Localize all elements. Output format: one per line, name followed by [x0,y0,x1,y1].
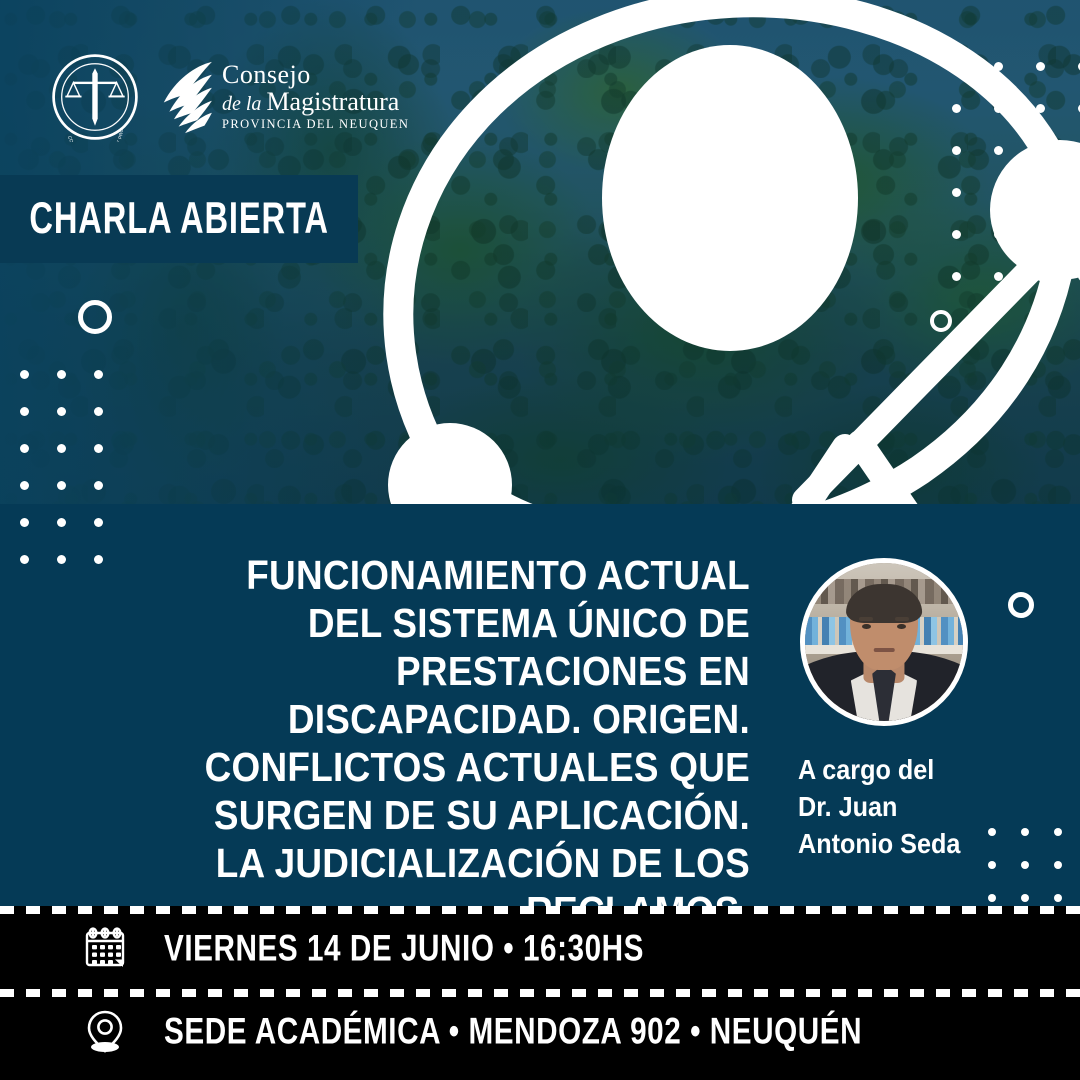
council-line-2-prefix: de la [222,93,266,115]
footer-info-bars: VIERNES 14 DE JUNIO • 16:30HS SEDE ACADÉ… [0,906,1080,1080]
dot-grid-decor-icon [988,828,1078,898]
event-location-text: SEDE ACADÉMICA • MENDOZA 902 • NEUQUÉN [164,1009,862,1052]
ring-decor-icon [78,300,112,334]
ring-decor-icon [1008,592,1034,618]
location-row: SEDE ACADÉMICA • MENDOZA 902 • NEUQUÉN [0,989,1080,1072]
speaker-credit: A cargo del Dr. Juan Antonio Seda [798,752,960,863]
ring-decor-icon [930,310,952,332]
council-line-3: PROVINCIA DEL NEUQUEN [222,117,409,131]
dot-grid-decor-icon [952,62,1080,292]
council-line-2: Magistratura [266,87,399,116]
speaker-avatar [800,558,968,726]
charla-abierta-banner: CHARLA ABIERTA [0,175,358,263]
scales-of-justice-seal-icon: COLEGIO DE ABOGADOS Y PROCURADORES DE NE… [50,52,140,142]
map-pin-icon [80,1006,130,1056]
council-line-1: Consejo [222,60,311,89]
calendar-icon [80,923,130,973]
wing-logo-icon [158,60,214,134]
logo-lockup: COLEGIO DE ABOGADOS Y PROCURADORES DE NE… [50,52,409,142]
consejo-magistratura-logo: Consejo de la Magistratura PROVINCIA DEL… [158,60,409,134]
date-row: VIERNES 14 DE JUNIO • 16:30HS [0,906,1080,989]
banner-label: CHARLA ABIERTA [29,194,328,245]
talk-title: FUNCIONAMIENTO ACTUAL DEL SISTEMA ÚNICO … [174,552,750,936]
event-date-text: VIERNES 14 DE JUNIO • 16:30HS [164,926,644,969]
event-poster: COLEGIO DE ABOGADOS Y PROCURADORES DE NE… [0,0,1080,1080]
dot-grid-decor-icon [20,370,140,560]
